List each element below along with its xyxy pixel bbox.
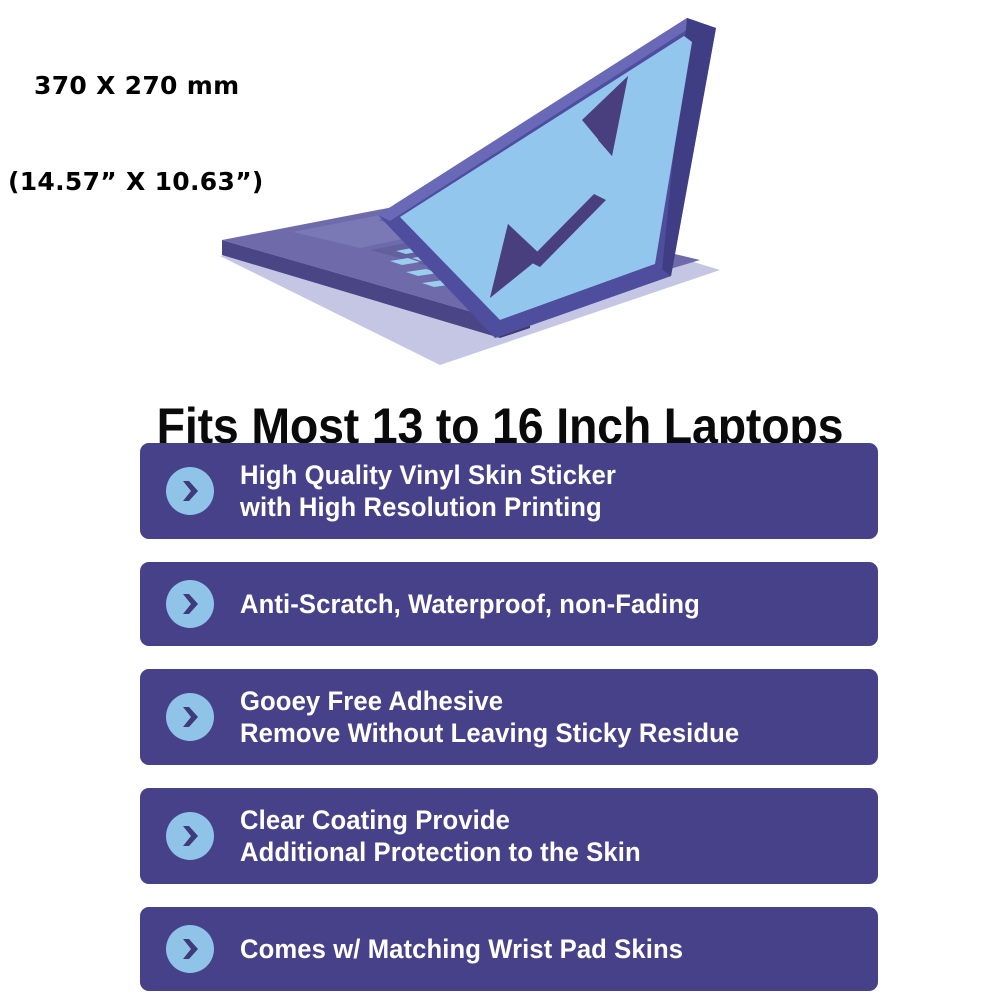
feature-bar: Clear Coating Provide Additional Protect…: [140, 788, 878, 884]
feature-text-line: Additional Protection to the Skin: [240, 836, 641, 868]
feature-text: Anti-Scratch, Waterproof, non-Fading: [240, 588, 700, 620]
laptop-illustration: [200, 8, 740, 376]
feature-list: High Quality Vinyl Skin Sticker with Hig…: [140, 443, 878, 991]
feature-text: Gooey Free Adhesive Remove Without Leavi…: [240, 685, 739, 749]
feature-text-line: with High Resolution Printing: [240, 491, 616, 523]
chevron-right-icon: [166, 580, 214, 628]
chevron-right-icon: [166, 925, 214, 973]
feature-text-line: High Quality Vinyl Skin Sticker: [240, 459, 616, 491]
feature-text-line: Gooey Free Adhesive: [240, 685, 739, 717]
feature-text-line: Anti-Scratch, Waterproof, non-Fading: [240, 588, 700, 620]
feature-text-line: Clear Coating Provide: [240, 804, 641, 836]
feature-text-line: Remove Without Leaving Sticky Residue: [240, 717, 739, 749]
chevron-right-icon: [166, 812, 214, 860]
feature-text: High Quality Vinyl Skin Sticker with Hig…: [240, 459, 616, 523]
feature-bar: Comes w/ Matching Wrist Pad Skins: [140, 907, 878, 991]
feature-text: Comes w/ Matching Wrist Pad Skins: [240, 933, 683, 965]
feature-bar: Gooey Free Adhesive Remove Without Leavi…: [140, 669, 878, 765]
feature-text: Clear Coating Provide Additional Protect…: [240, 804, 641, 868]
feature-bar: Anti-Scratch, Waterproof, non-Fading: [140, 562, 878, 646]
feature-text-line: Comes w/ Matching Wrist Pad Skins: [240, 933, 683, 965]
feature-bar: High Quality Vinyl Skin Sticker with Hig…: [140, 443, 878, 539]
chevron-right-icon: [166, 693, 214, 741]
chevron-right-icon: [166, 467, 214, 515]
